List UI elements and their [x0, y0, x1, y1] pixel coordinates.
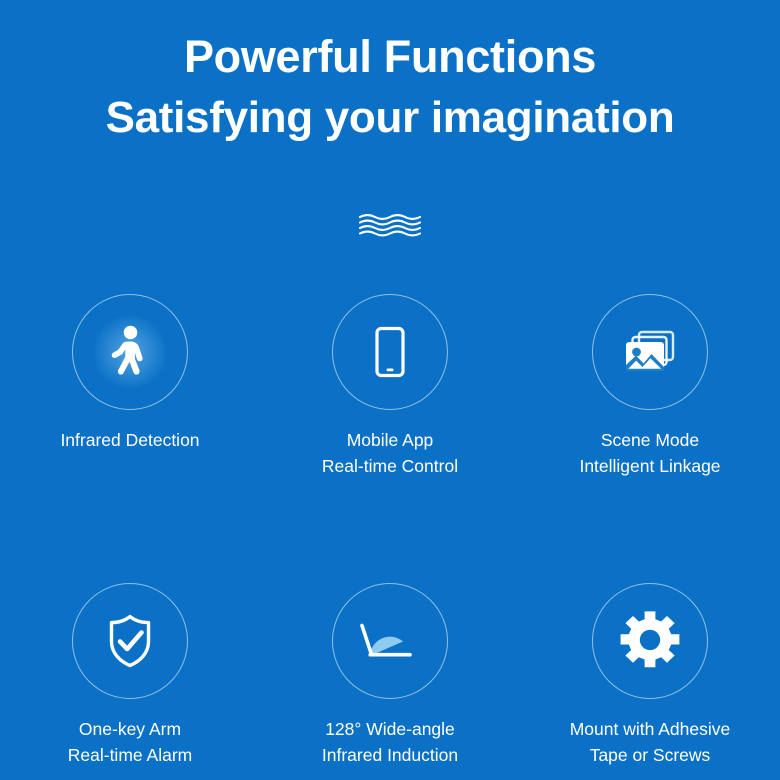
feature-label-line: One-key Arm	[68, 716, 192, 742]
feature-label-line: Infrared Induction	[322, 742, 458, 768]
shield-check-icon	[100, 611, 160, 671]
feature-scene-mode[interactable]: Scene Mode Intelligent Linkage	[520, 294, 780, 479]
feature-label-line: Intelligent Linkage	[579, 453, 720, 479]
page-title: Powerful Functions Satisfying your imagi…	[0, 26, 780, 148]
feature-icon-circle	[72, 294, 188, 410]
feature-row-1: Infrared Detection Mobile App Real-time …	[0, 294, 780, 479]
feature-label: Infrared Detection	[60, 427, 199, 453]
headline-line-1: Powerful Functions	[0, 26, 780, 88]
feature-mounting[interactable]: Mount with Adhesive Tape or Screws	[520, 583, 780, 768]
feature-label-line: Mobile App	[322, 427, 458, 453]
feature-label: Mobile App Real-time Control	[322, 427, 458, 479]
feature-icon-circle	[72, 583, 188, 699]
promo-banner: Powerful Functions Satisfying your imagi…	[0, 0, 780, 780]
feature-icon-circle	[332, 294, 448, 410]
smartphone-icon	[360, 322, 420, 382]
gear-icon	[620, 611, 680, 671]
feature-label: One-key Arm Real-time Alarm	[68, 716, 192, 768]
wide-angle-icon	[358, 616, 422, 666]
feature-row-2: One-key Arm Real-time Alarm	[0, 583, 780, 768]
feature-label-line: Mount with Adhesive	[570, 716, 731, 742]
feature-label-line: Real-time Alarm	[68, 742, 192, 768]
headline-line-2: Satisfying your imagination	[0, 88, 780, 148]
wave-divider	[0, 212, 780, 238]
walking-person-icon	[99, 321, 161, 383]
feature-icon-circle	[332, 583, 448, 699]
feature-grid: Infrared Detection Mobile App Real-time …	[0, 294, 780, 768]
feature-label-line: Tape or Screws	[570, 742, 731, 768]
feature-one-key-arm[interactable]: One-key Arm Real-time Alarm	[0, 583, 260, 768]
feature-label-line: Scene Mode	[579, 427, 720, 453]
wave-lines-icon	[358, 225, 422, 242]
feature-mobile-app[interactable]: Mobile App Real-time Control	[260, 294, 520, 479]
feature-label: Mount with Adhesive Tape or Screws	[570, 716, 731, 768]
feature-icon-circle	[592, 583, 708, 699]
feature-wide-angle[interactable]: 128° Wide-angle Infrared Induction	[260, 583, 520, 768]
feature-label: 128° Wide-angle Infrared Induction	[322, 716, 458, 768]
feature-icon-circle	[592, 294, 708, 410]
feature-label-line: Real-time Control	[322, 453, 458, 479]
feature-label: Scene Mode Intelligent Linkage	[579, 427, 720, 479]
feature-infrared-detection[interactable]: Infrared Detection	[0, 294, 260, 479]
photo-gallery-icon	[619, 321, 681, 383]
feature-label-line: Infrared Detection	[60, 427, 199, 453]
feature-label-line: 128° Wide-angle	[322, 716, 458, 742]
